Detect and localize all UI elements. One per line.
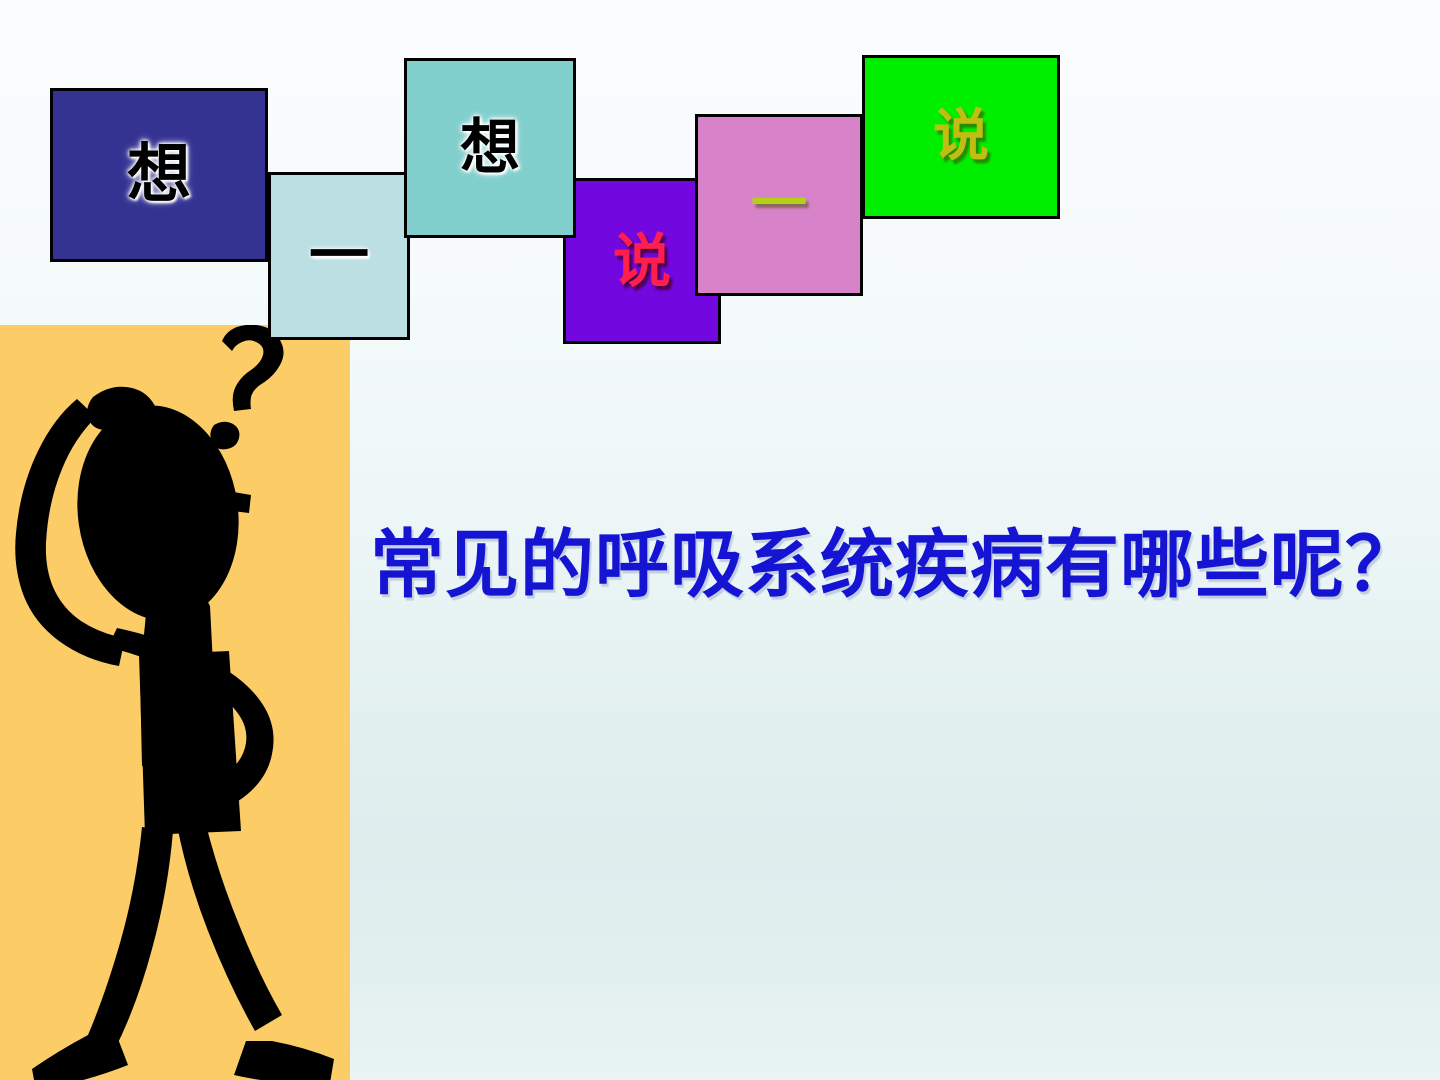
word-box-shuo-green[interactable]: 说 [862, 55, 1060, 219]
word-box-glyph: 想 [127, 143, 191, 207]
word-box-glyph: 说 [613, 232, 671, 290]
word-box-glyph: 一 [309, 226, 369, 286]
word-box-yi-orchid[interactable]: 一 [695, 114, 863, 296]
word-box-xiang-teal[interactable]: 想 [404, 58, 576, 238]
word-box-glyph: 说 [933, 109, 989, 165]
yellow-side-panel [0, 325, 350, 1080]
slide-question-headline: 常见的呼吸系统疾病有哪些呢？ [370, 525, 1380, 606]
word-box-glyph: 想 [460, 118, 520, 178]
word-box-glyph: 一 [751, 177, 807, 233]
slide-canvas: 想 一 想 说 一 说 常见的呼吸系统疾病有哪些呢？ [0, 0, 1440, 1080]
word-box-yi-paleblue[interactable]: 一 [268, 172, 410, 340]
word-box-xiang-navy[interactable]: 想 [50, 88, 268, 262]
